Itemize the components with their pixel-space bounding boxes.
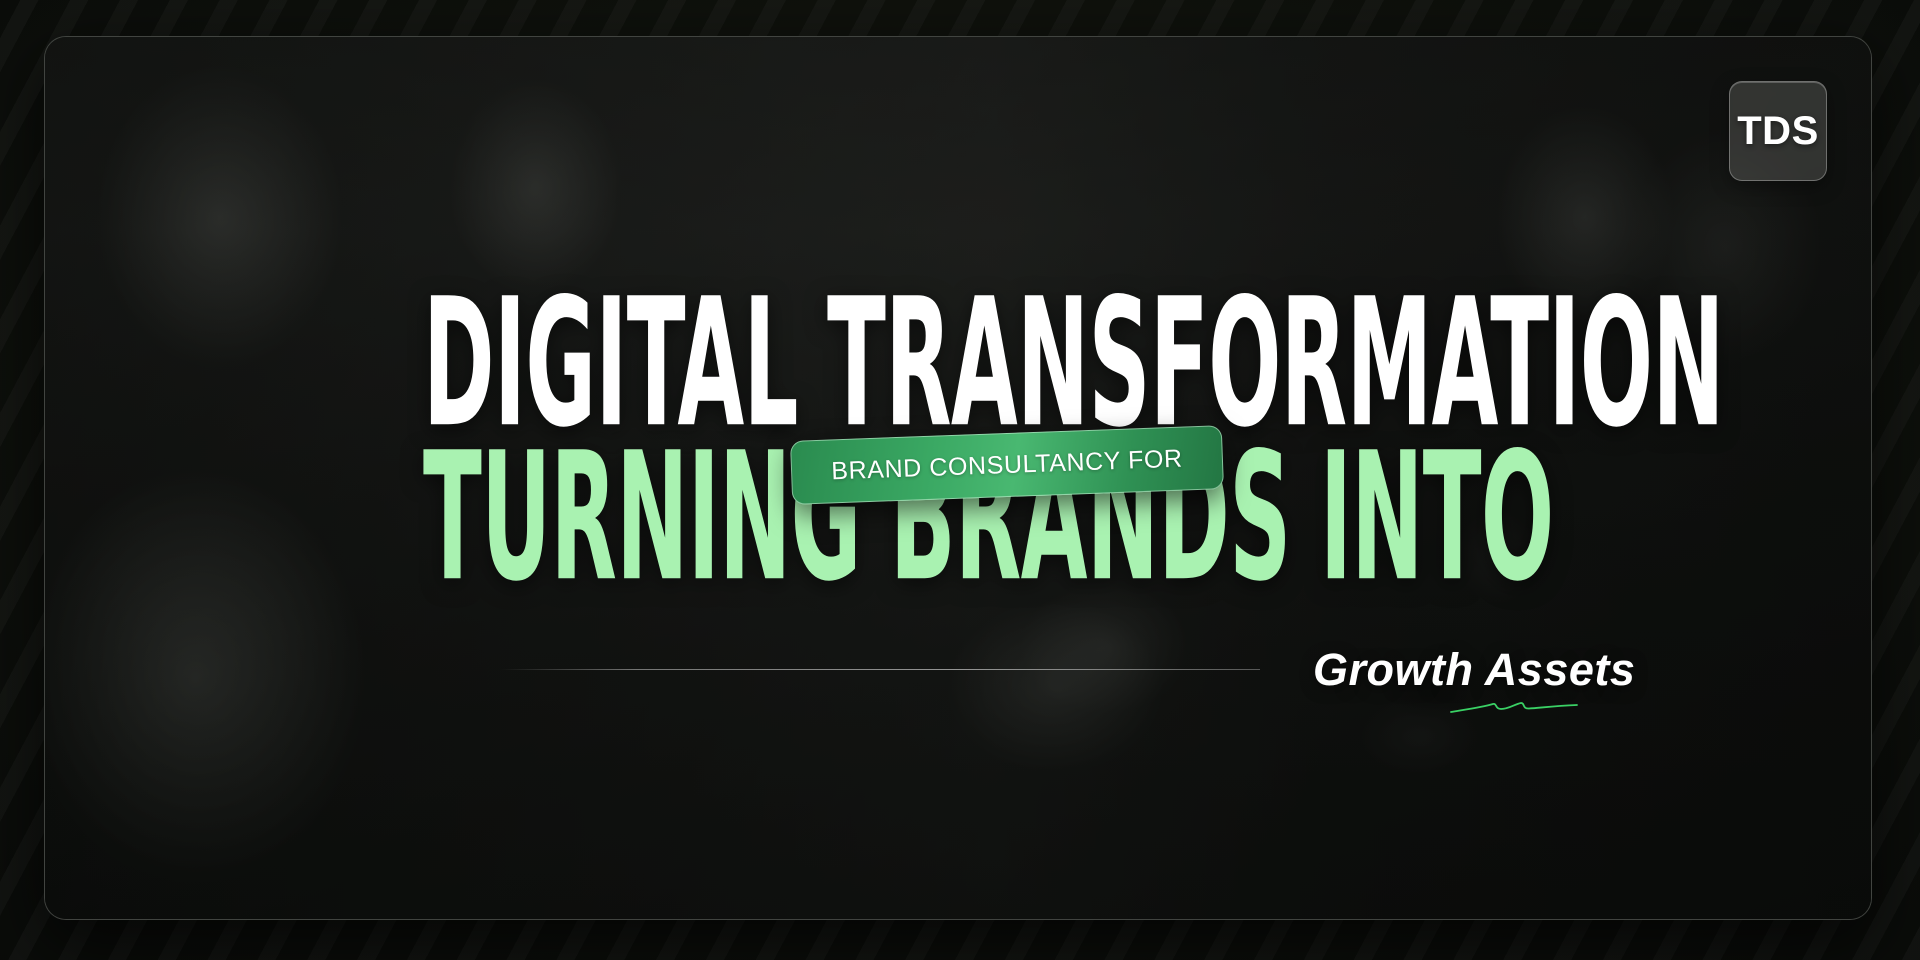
green-scribble-underline-icon <box>1449 695 1579 721</box>
tds-logo-badge[interactable]: TDS <box>1729 81 1827 181</box>
tds-logo-text: TDS <box>1737 111 1819 151</box>
divider-rule <box>500 669 1260 670</box>
sub-headline: Growth Assets <box>1313 644 1635 696</box>
eyebrow-badge-label: BRAND CONSULTANCY FOR <box>831 444 1183 486</box>
poster-canvas: TDS DIGITAL TRANSFORMATION TURNING BRAND… <box>0 0 1920 960</box>
hero-card: TDS DIGITAL TRANSFORMATION TURNING BRAND… <box>44 36 1872 920</box>
headline-block: DIGITAL TRANSFORMATION TURNING BRANDS IN… <box>423 289 1593 406</box>
